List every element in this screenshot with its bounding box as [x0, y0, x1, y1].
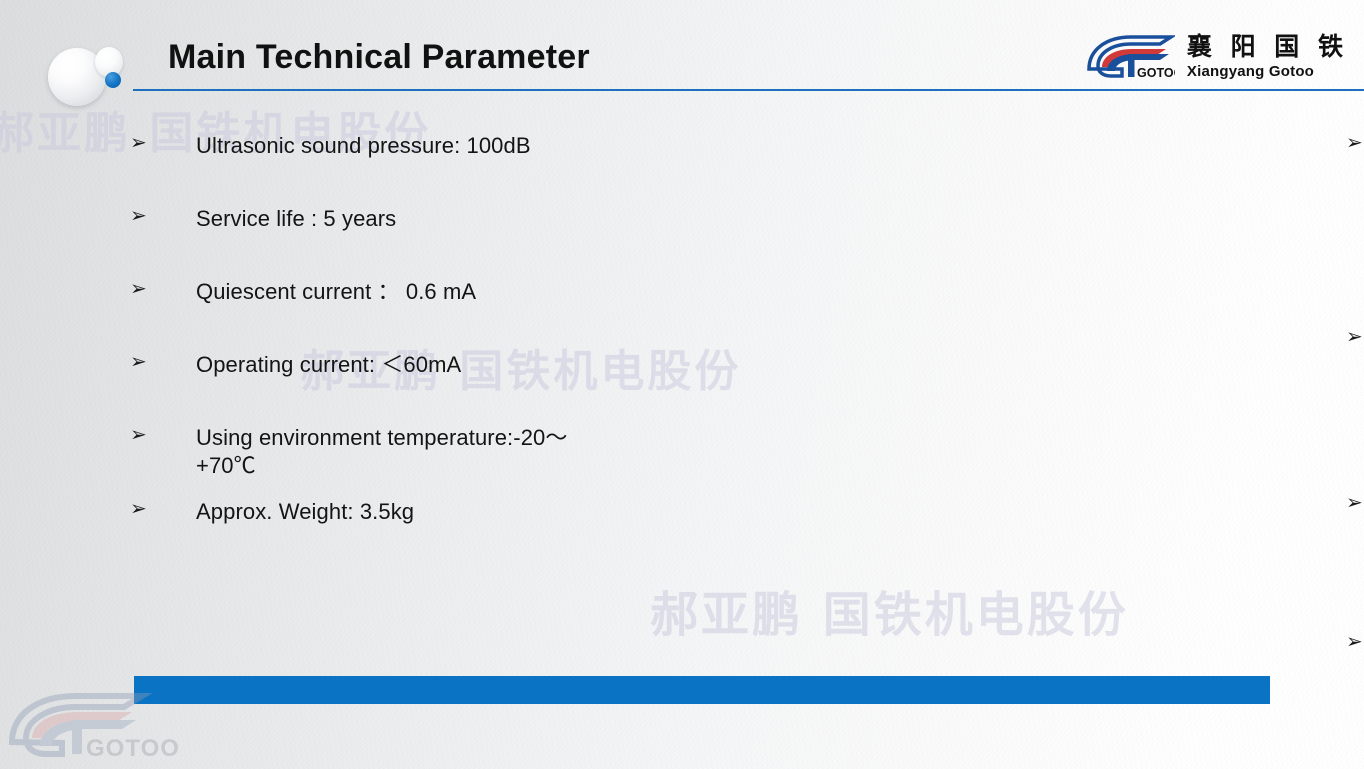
list-item: ➢ Effective working radius : 15m	[660, 492, 1364, 631]
arrow-bullet-icon: ➢	[130, 132, 147, 152]
sphere-large-icon	[48, 48, 106, 106]
decorative-spheres	[40, 38, 130, 110]
list-item: ➢ Quiescent current ： 0.6 mA	[130, 278, 660, 351]
list-item: ➢ Operating current: ＜60mA	[130, 351, 660, 424]
list-item: ➢ Approx. Weight: 3.5kg	[130, 498, 660, 571]
list-item: ➢ Battery without sunlight working time:…	[660, 326, 1364, 492]
arrow-bullet-icon: ➢	[1346, 631, 1363, 651]
header-divider	[133, 89, 1364, 91]
sphere-blue-dot-icon	[105, 72, 121, 88]
list-item: ➢ Ultrasonic sound pressure: 100dB	[130, 132, 660, 205]
list-item-label: Operating current: ＜60mA	[196, 351, 626, 379]
list-item: ➢ Using environment temperature:-20～+70℃	[130, 424, 660, 498]
svg-text:GOTOO: GOTOO	[1137, 66, 1175, 80]
svg-text:GOTOO: GOTOO	[86, 735, 180, 762]
slide-canvas: 郝亚鹏 国铁机电股份 郝亚鹏 国铁机电股份 郝亚鹏 国铁机电股份 Main Te…	[0, 0, 1364, 769]
list-item-label: Approx. Weight: 3.5kg	[196, 498, 626, 526]
arrow-bullet-icon: ➢	[130, 278, 147, 298]
arrow-bullet-icon: ➢	[130, 498, 147, 518]
left-parameter-column: ➢ Ultrasonic sound pressure: 100dB ➢ Ser…	[0, 132, 660, 572]
footer-accent-bar	[134, 676, 1270, 704]
list-item: ➢ Service life : 5 years	[130, 205, 660, 278]
arrow-bullet-icon: ➢	[1346, 492, 1363, 512]
arrow-bullet-icon: ➢	[130, 424, 147, 444]
arrow-bullet-icon: ➢	[130, 205, 147, 225]
list-item: ➢ Battery voltage and working voltage: D…	[660, 132, 1364, 326]
right-parameter-column: ➢ Battery voltage and working voltage: D…	[660, 132, 1364, 572]
page-title: Main Technical Parameter	[168, 38, 590, 77]
list-item-label: Using environment temperature:-20～+70℃	[196, 424, 626, 479]
arrow-bullet-icon: ➢	[1346, 132, 1363, 152]
brand-name-en: Xiangyang Gotoo	[1187, 64, 1348, 79]
brand-name-cn: 襄 阳 国 铁	[1187, 34, 1348, 59]
arrow-bullet-icon: ➢	[1346, 326, 1363, 346]
list-item-label: Service life : 5 years	[196, 205, 626, 233]
list-item-label: Ultrasonic sound pressure: 100dB	[196, 132, 626, 160]
parameter-columns: ➢ Ultrasonic sound pressure: 100dB ➢ Ser…	[0, 132, 1364, 572]
gotoo-gt-mark-icon: GOTOO	[1085, 32, 1175, 80]
sphere-small-icon	[95, 47, 123, 77]
brand-logo: GOTOO 襄 阳 国 铁 Xiangyang Gotoo	[1085, 28, 1348, 84]
list-item-label: Quiescent current ： 0.6 mA	[196, 278, 626, 306]
arrow-bullet-icon: ➢	[130, 351, 147, 371]
brand-text: 襄 阳 国 铁 Xiangyang Gotoo	[1187, 34, 1348, 79]
